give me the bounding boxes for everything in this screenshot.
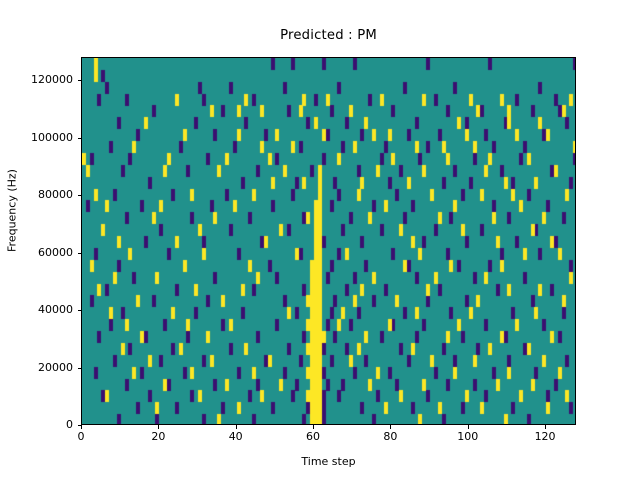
x-axis-label: Time step: [81, 455, 576, 468]
y-tick-mark: [78, 368, 82, 369]
y-tick-mark: [78, 138, 82, 139]
y-tick-mark: [78, 195, 82, 196]
y-tick-label: 0: [0, 418, 73, 431]
x-tick-mark: [545, 425, 546, 429]
x-tick-mark: [81, 425, 82, 429]
y-tick-mark: [78, 310, 82, 311]
matplotlib-figure: Predicted : PM 0204060801001200200004000…: [0, 0, 640, 480]
x-tick-mark: [313, 425, 314, 429]
x-tick-label: 60: [273, 430, 353, 443]
x-tick-mark: [236, 425, 237, 429]
x-tick-label: 0: [41, 430, 121, 443]
axis-tick-layer: 0204060801001200200004000060000800001000…: [0, 0, 640, 480]
x-tick-label: 120: [505, 430, 585, 443]
y-tick-mark: [78, 425, 82, 426]
y-tick-mark: [78, 80, 82, 81]
x-tick-mark: [158, 425, 159, 429]
x-tick-label: 40: [196, 430, 276, 443]
x-tick-label: 80: [350, 430, 430, 443]
x-tick-mark: [468, 425, 469, 429]
y-axis-label: Frequency (Hz): [6, 27, 19, 395]
x-tick-mark: [390, 425, 391, 429]
x-tick-label: 20: [118, 430, 198, 443]
y-tick-mark: [78, 253, 82, 254]
x-tick-label: 100: [428, 430, 508, 443]
